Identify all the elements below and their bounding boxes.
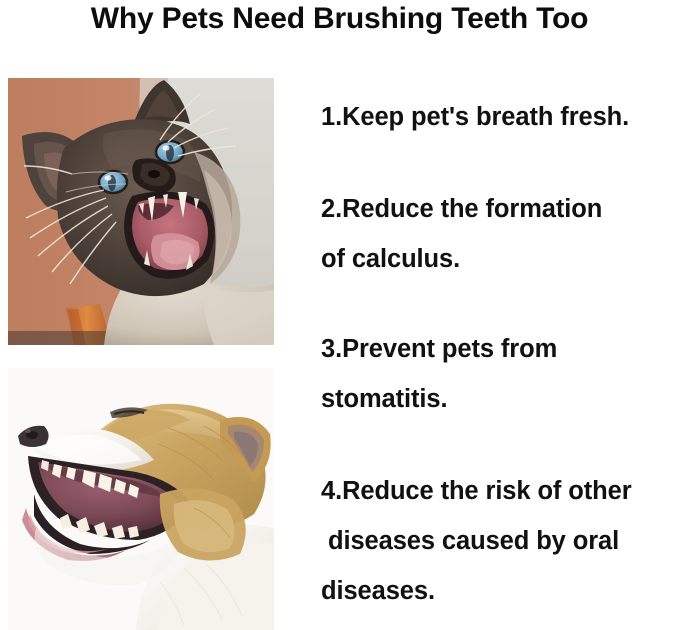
list-item-4: 4.Reduce the risk of other diseases caus… <box>321 466 679 616</box>
list-item-3-line-1: 3.Prevent pets from <box>321 324 679 374</box>
dog-photo <box>8 368 274 630</box>
spacer-1 <box>321 142 679 184</box>
list-item-4-line-1: 4.Reduce the risk of other <box>321 466 679 516</box>
cat-illustration <box>8 78 274 345</box>
list-item-1: 1.Keep pet's breath fresh. <box>321 92 679 142</box>
list-item-3-line-2: stomatitis. <box>321 374 679 424</box>
spacer-2 <box>321 284 679 324</box>
list-item-2-line-2: of calculus. <box>321 234 679 284</box>
list-item-1-line-1: 1.Keep pet's breath fresh. <box>321 92 679 142</box>
dog-illustration <box>8 368 274 630</box>
cat-photo <box>8 78 274 345</box>
page-title: Why Pets Need Brushing Teeth Too <box>0 2 679 36</box>
spacer-3 <box>321 424 679 466</box>
list-item-4-line-3: diseases. <box>321 566 679 616</box>
list-item-3: 3.Prevent pets from stomatitis. <box>321 324 679 424</box>
list-item-2: 2.Reduce the formation of calculus. <box>321 184 679 284</box>
infographic-page: Why Pets Need Brushing Teeth Too <box>0 0 679 630</box>
benefits-list: 1.Keep pet's breath fresh. 2.Reduce the … <box>321 92 679 616</box>
list-item-4-line-2: diseases caused by oral <box>321 516 679 566</box>
list-item-2-line-1: 2.Reduce the formation <box>321 184 679 234</box>
